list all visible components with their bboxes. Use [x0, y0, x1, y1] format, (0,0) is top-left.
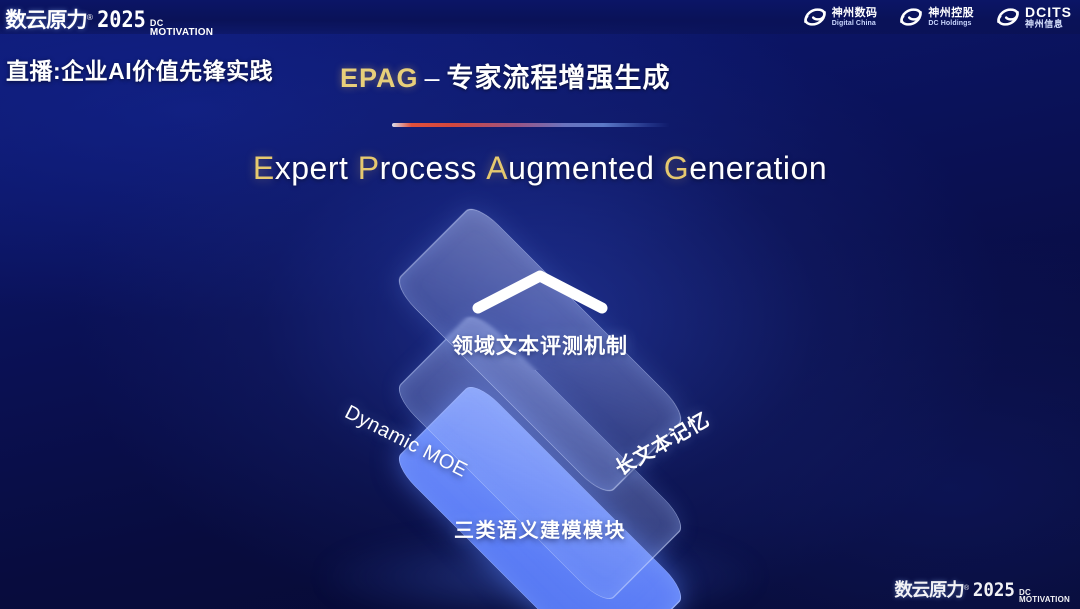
watermark-year: 2025	[973, 579, 1015, 601]
stack-label-bottom: 三类语义建模模块	[454, 514, 626, 543]
brand-dc-bottom: MOTIVATION	[150, 28, 213, 38]
page-title: EPAG–专家流程增强生成	[340, 56, 671, 95]
footer-watermark: 数云原力 ® 2025 DC MOTIVATION	[895, 576, 1070, 605]
subtitle-word-process: rocess	[380, 150, 477, 186]
partner-name-cn: 神州信息	[1025, 20, 1072, 29]
title-chinese: 专家流程增强生成	[447, 63, 671, 93]
partner-name-en: Digital China	[832, 20, 878, 27]
swirl-logo-icon	[803, 6, 827, 28]
partner-name-cn: 神州控股	[928, 8, 974, 19]
layer-stack-diagram: 领域文本评测机制 Dynamic MOE 长文本记忆 三类语义建模模块	[270, 232, 810, 562]
swirl-logo-icon	[899, 6, 923, 28]
brand-dc-motivation: DC MOTIVATION	[150, 19, 213, 37]
partner-label: DCITS 神州信息	[1025, 5, 1072, 29]
subtitle-space-1	[348, 150, 357, 186]
stack-label-top: 领域文本评测机制	[452, 330, 628, 360]
subtitle-word-expert: xpert	[275, 150, 349, 186]
partner-logo-group: 神州数码 Digital China 神州控股 DC Holdings	[803, 5, 1072, 29]
partner-name-en: DC Holdings	[928, 20, 974, 27]
subtitle-cap-p: P	[358, 150, 380, 186]
watermark-registered-icon: ®	[964, 585, 969, 592]
brand-year: 2025	[97, 8, 146, 33]
watermark-dc-bottom: MOTIVATION	[1019, 596, 1070, 604]
watermark-name-cn: 数云原力	[894, 576, 963, 602]
brand-name-cn: 数云原力	[5, 4, 87, 34]
subtitle-word-generation: eneration	[689, 150, 827, 186]
brand-logo: 数云原力 ® 2025 DC MOTIVATION	[6, 4, 213, 38]
partner-digital-china: 神州数码 Digital China	[803, 6, 878, 28]
subtitle-cap-a: A	[486, 150, 508, 186]
subtitle-cap-e: E	[253, 150, 275, 186]
slide-canvas: 数云原力 ® 2025 DC MOTIVATION 直播:企业AI价值先锋实践 …	[0, 0, 1080, 609]
title-dash: –	[425, 63, 441, 93]
partner-name-en: DCITS	[1025, 5, 1072, 19]
subtitle-cap-g: G	[664, 150, 689, 186]
subtitle-space-3	[654, 150, 663, 186]
subtitle-word-augmented: ugmented	[508, 150, 654, 186]
registered-mark-icon: ®	[87, 13, 93, 22]
title-acronym: EPAG	[340, 63, 419, 93]
watermark-dc-motivation: DC MOTIVATION	[1019, 589, 1070, 604]
live-broadcast-title: 直播:企业AI价值先锋实践	[6, 52, 273, 86]
gradient-divider	[392, 123, 670, 127]
partner-label: 神州数码 Digital China	[832, 8, 878, 27]
partner-dcits: DCITS 神州信息	[996, 5, 1072, 29]
swirl-logo-icon	[996, 6, 1020, 28]
chevron-up-icon	[470, 268, 610, 314]
partner-label: 神州控股 DC Holdings	[928, 8, 974, 27]
subtitle-space-2	[477, 150, 486, 186]
partner-dc-holdings: 神州控股 DC Holdings	[899, 6, 974, 28]
subtitle: Expert Process Augmented Generation	[0, 150, 1080, 187]
partner-name-cn: 神州数码	[832, 8, 878, 19]
